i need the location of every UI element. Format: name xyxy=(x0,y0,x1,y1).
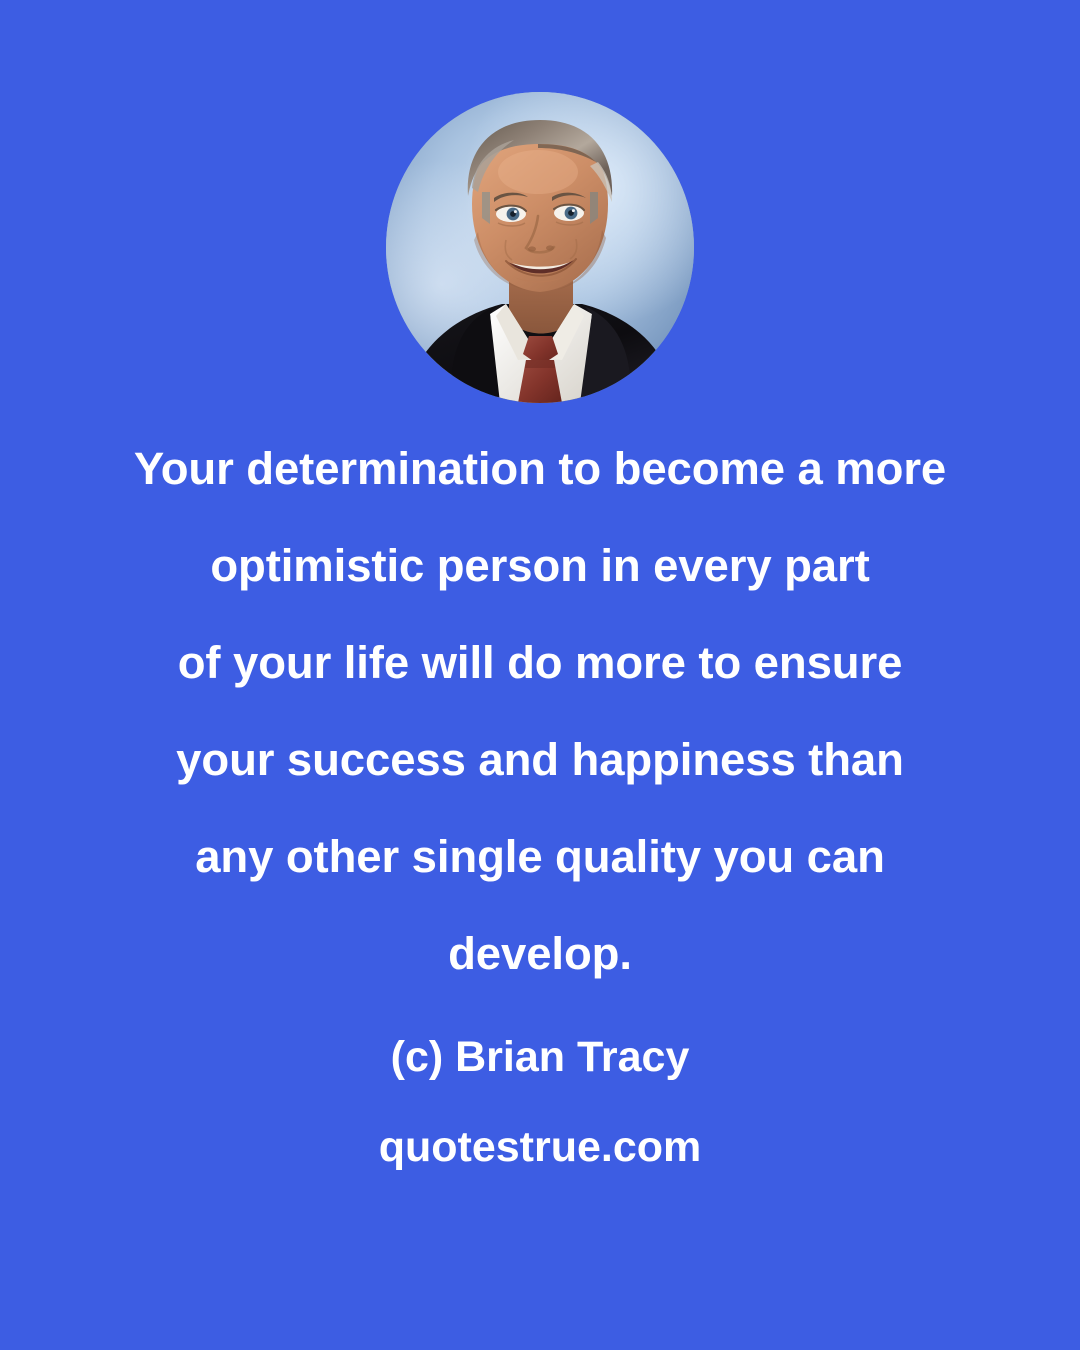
quote-line: any other single quality you can xyxy=(0,808,1080,905)
avatar xyxy=(386,92,694,403)
author-portrait xyxy=(386,92,694,403)
portrait-illustration xyxy=(386,92,694,403)
quote-card: Your determination to become a more opti… xyxy=(0,0,1080,1350)
quote-line: optimistic person in every part xyxy=(0,517,1080,614)
quote-line: your success and happiness than xyxy=(0,711,1080,808)
quote-line: Your determination to become a more xyxy=(0,420,1080,517)
source-watermark: quotestrue.com xyxy=(0,1120,1080,1174)
quote-line: of your life will do more to ensure xyxy=(0,614,1080,711)
quote-text: Your determination to become a more opti… xyxy=(0,420,1080,1002)
quote-attribution: (c) Brian Tracy xyxy=(0,1030,1080,1084)
quote-line: develop. xyxy=(0,905,1080,1002)
